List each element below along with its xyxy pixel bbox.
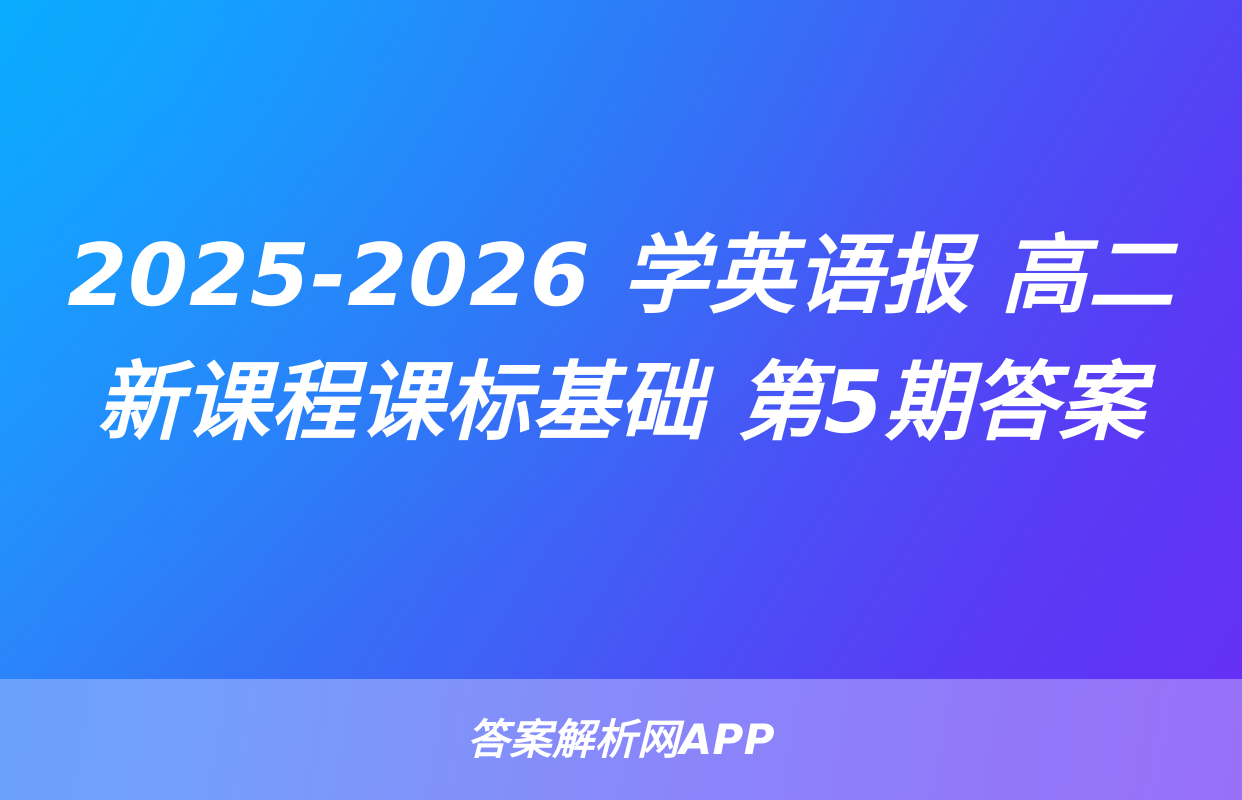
poster-image: 2025-2026 学英语报 高二 新课程课标基础 第5期答案 答案解析网APP <box>0 0 1242 800</box>
hero-gradient-background: 2025-2026 学英语报 高二 新课程课标基础 第5期答案 <box>0 0 1242 679</box>
footer-brand-band: 答案解析网APP <box>0 679 1242 800</box>
page-title: 2025-2026 学英语报 高二 新课程课标基础 第5期答案 <box>61 213 1181 466</box>
app-brand-label: 答案解析网APP <box>467 719 775 761</box>
hero-content: 2025-2026 学英语报 高二 新课程课标基础 第5期答案 <box>0 0 1242 679</box>
